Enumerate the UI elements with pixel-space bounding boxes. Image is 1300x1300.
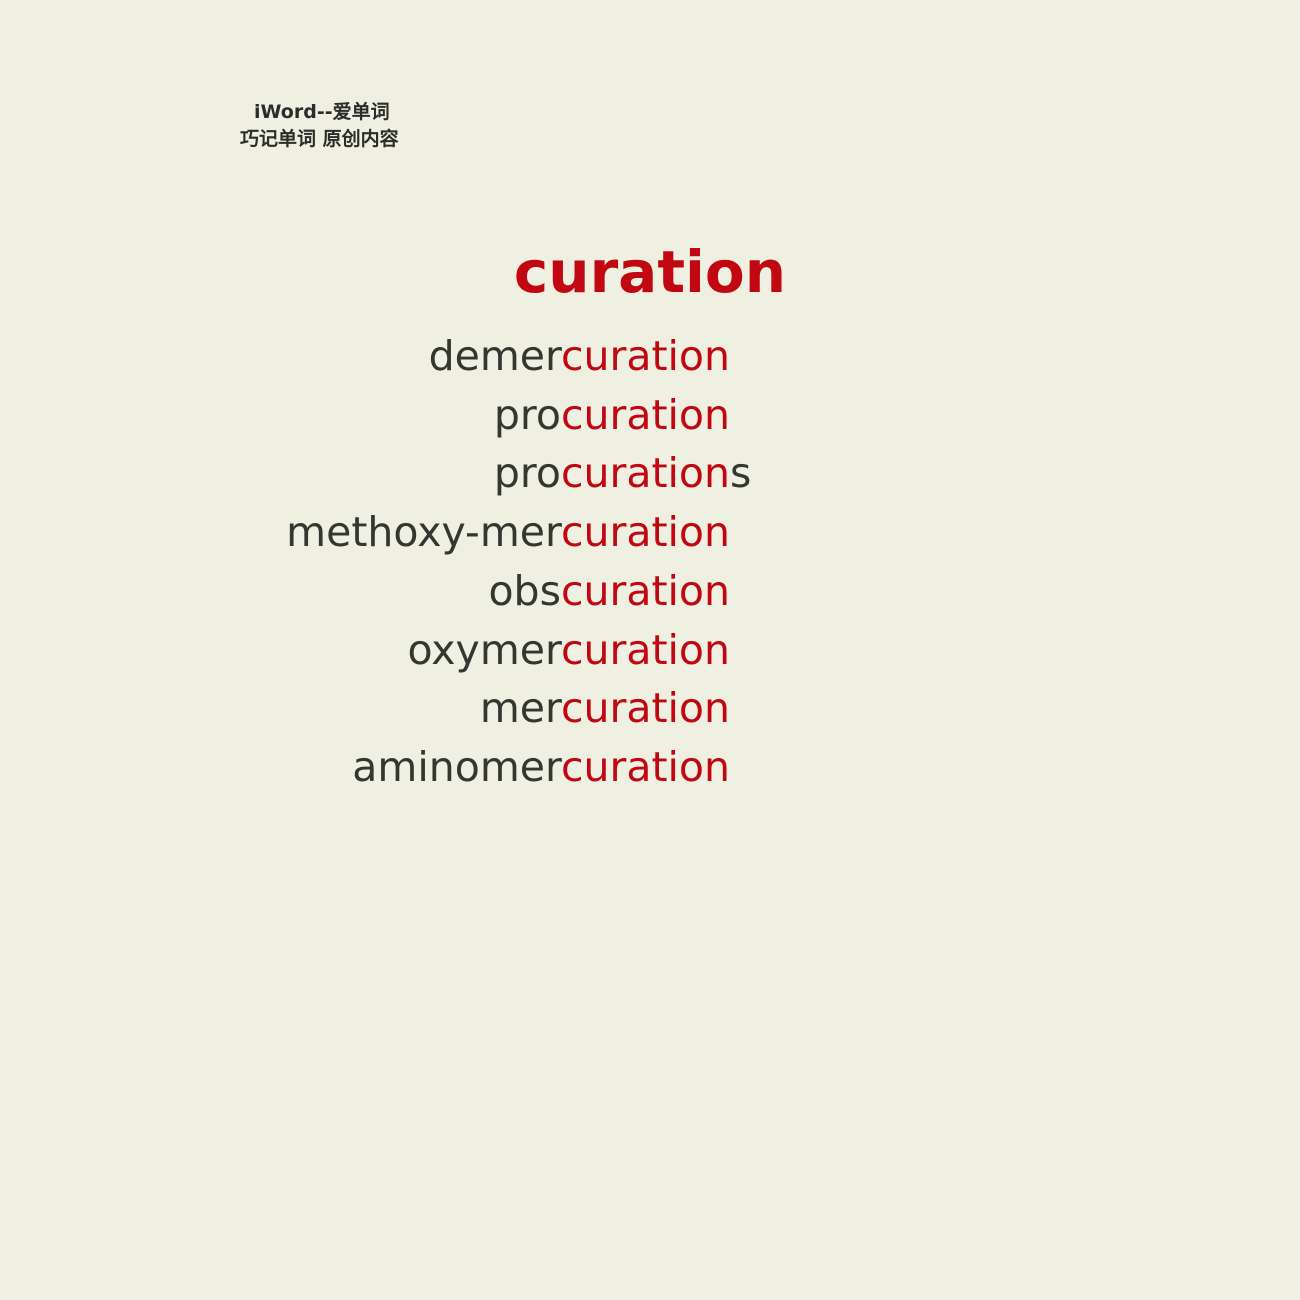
word-list-item: aminomercuration xyxy=(0,738,730,797)
page-root: iWord--爱单词 巧记单词 原创内容 curation demercurat… xyxy=(0,0,1300,1300)
word-list-item: demercuration xyxy=(0,327,730,386)
word-prefix: aminomer xyxy=(352,743,561,791)
word-list-item: obscuration xyxy=(0,562,730,621)
word-prefix: obs xyxy=(488,567,560,615)
word-root-highlight: curation xyxy=(561,508,730,556)
word-prefix: oxymer xyxy=(407,626,560,674)
word-list-item: procuration xyxy=(0,386,730,445)
word-prefix: methoxy-mer xyxy=(286,508,561,556)
word-root-highlight: curation xyxy=(561,391,730,439)
word-list: demercurationprocurationprocurationsmeth… xyxy=(0,327,730,797)
word-list-item: procurations xyxy=(0,444,730,503)
word-prefix: pro xyxy=(494,391,561,439)
word-prefix: mer xyxy=(480,684,561,732)
word-list-item: oxymercuration xyxy=(0,621,730,680)
word-prefix: demer xyxy=(429,332,561,380)
word-suffix: s xyxy=(730,444,751,503)
word-root-highlight: curation xyxy=(561,626,730,674)
page-title: curation xyxy=(0,243,1300,301)
word-prefix: pro xyxy=(494,449,561,497)
watermark-line-1: iWord--爱单词 xyxy=(240,99,399,126)
word-list-item: methoxy-mercuration xyxy=(0,503,730,562)
word-root-highlight: curation xyxy=(561,567,730,615)
word-root-highlight: curation xyxy=(561,743,730,791)
word-root-highlight: curation xyxy=(561,684,730,732)
watermark-line-2: 巧记单词 原创内容 xyxy=(240,126,399,153)
word-root-highlight: curation xyxy=(561,332,730,380)
word-root-highlight: curation xyxy=(561,449,730,497)
watermark: iWord--爱单词 巧记单词 原创内容 xyxy=(240,99,399,153)
word-list-item: mercuration xyxy=(0,679,730,738)
